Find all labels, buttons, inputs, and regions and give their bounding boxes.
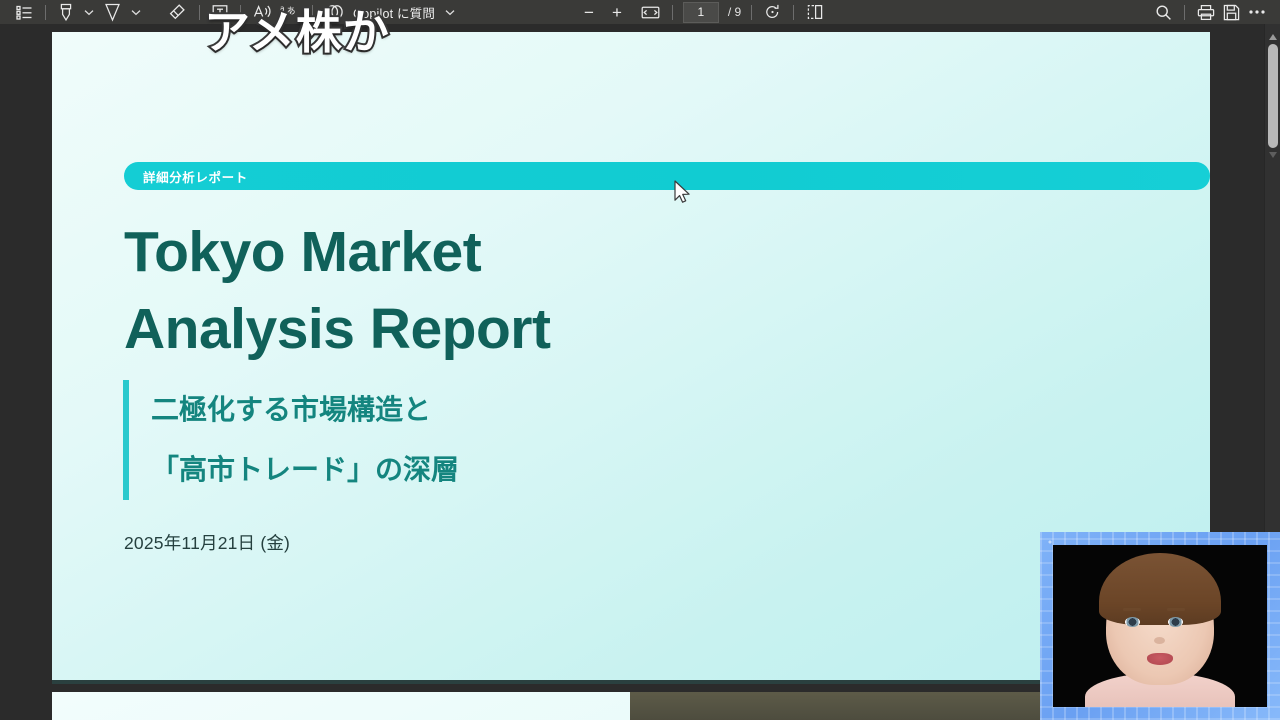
pen-dropdown-chevron-icon[interactable] (125, 1, 147, 23)
page-title-line-2: Analysis Report (124, 291, 824, 368)
video-caption-overlay: アメ株か (204, 0, 390, 62)
more-options-icon[interactable] (1244, 1, 1270, 23)
rotate-icon[interactable] (760, 1, 785, 23)
report-badge-label: 詳細分析レポート (124, 167, 248, 186)
eraser-icon[interactable] (165, 1, 191, 23)
page-subtitle-line-1: 二極化する市場構造と (151, 380, 459, 440)
scroll-down-arrow-icon[interactable] (1265, 148, 1280, 162)
page-layout-icon[interactable] (802, 1, 828, 23)
webcam-person-brow-left (1123, 608, 1141, 611)
webcam-overlay[interactable] (1040, 532, 1280, 720)
page-subtitle-block: 二極化する市場構造と 「高市トレード」の深層 (123, 380, 459, 500)
page-subtitle: 二極化する市場構造と 「高市トレード」の深層 (129, 380, 459, 500)
page-title: Tokyo Market Analysis Report (124, 214, 824, 368)
mouse-cursor (674, 180, 692, 211)
webcam-person-brow-right (1167, 608, 1185, 611)
toolbar-divider-7 (793, 5, 794, 20)
toolbar-divider-6 (751, 5, 752, 20)
zoom-out-button[interactable]: − (575, 1, 603, 23)
webcam-person-mouth (1147, 653, 1173, 665)
print-icon[interactable] (1193, 1, 1219, 23)
webcam-video (1053, 545, 1267, 707)
webcam-person-hair (1099, 553, 1221, 625)
pdf-toolbar: a あ Copilot に質問 − + (0, 0, 1280, 24)
toolbar-center-group: − + 1 / 9 (575, 1, 828, 23)
highlighter-icon[interactable] (54, 1, 78, 23)
page-date: 2025年11月21日 (金) (124, 530, 290, 555)
fit-page-icon[interactable] (637, 1, 664, 23)
page-subtitle-line-2: 「高市トレード」の深層 (151, 440, 459, 500)
copilot-dropdown-chevron-icon[interactable] (439, 1, 461, 23)
zoom-in-button[interactable]: + (603, 1, 631, 23)
pdf-page-2 (52, 692, 630, 720)
pdf-reader-window: a あ Copilot に質問 − + (0, 0, 1280, 720)
toolbar-right-group (1151, 1, 1270, 23)
page-title-line-1: Tokyo Market (124, 214, 824, 291)
toolbar-divider-2 (199, 5, 200, 20)
table-of-contents-icon[interactable] (12, 1, 37, 23)
scroll-up-arrow-icon[interactable] (1265, 30, 1280, 44)
pen-icon[interactable] (100, 1, 125, 23)
save-icon[interactable] (1219, 1, 1244, 23)
webcam-person-nose (1154, 637, 1165, 644)
webcam-person-eye-left (1125, 617, 1140, 627)
toolbar-divider-5 (672, 5, 673, 20)
scrollbar-thumb[interactable] (1268, 44, 1278, 148)
toolbar-divider-1 (45, 5, 46, 20)
toolbar-divider-8 (1184, 5, 1185, 20)
page-number-input[interactable]: 1 (683, 2, 719, 23)
page-total-label: / 9 (728, 5, 741, 19)
webcam-person-eye-right (1168, 617, 1183, 627)
pdf-page-1: 詳細分析レポート Tokyo Market Analysis Report 二極… (52, 32, 1210, 684)
search-icon[interactable] (1151, 1, 1176, 23)
highlighter-dropdown-chevron-icon[interactable] (78, 1, 100, 23)
report-badge-bar: 詳細分析レポート (124, 162, 1210, 190)
